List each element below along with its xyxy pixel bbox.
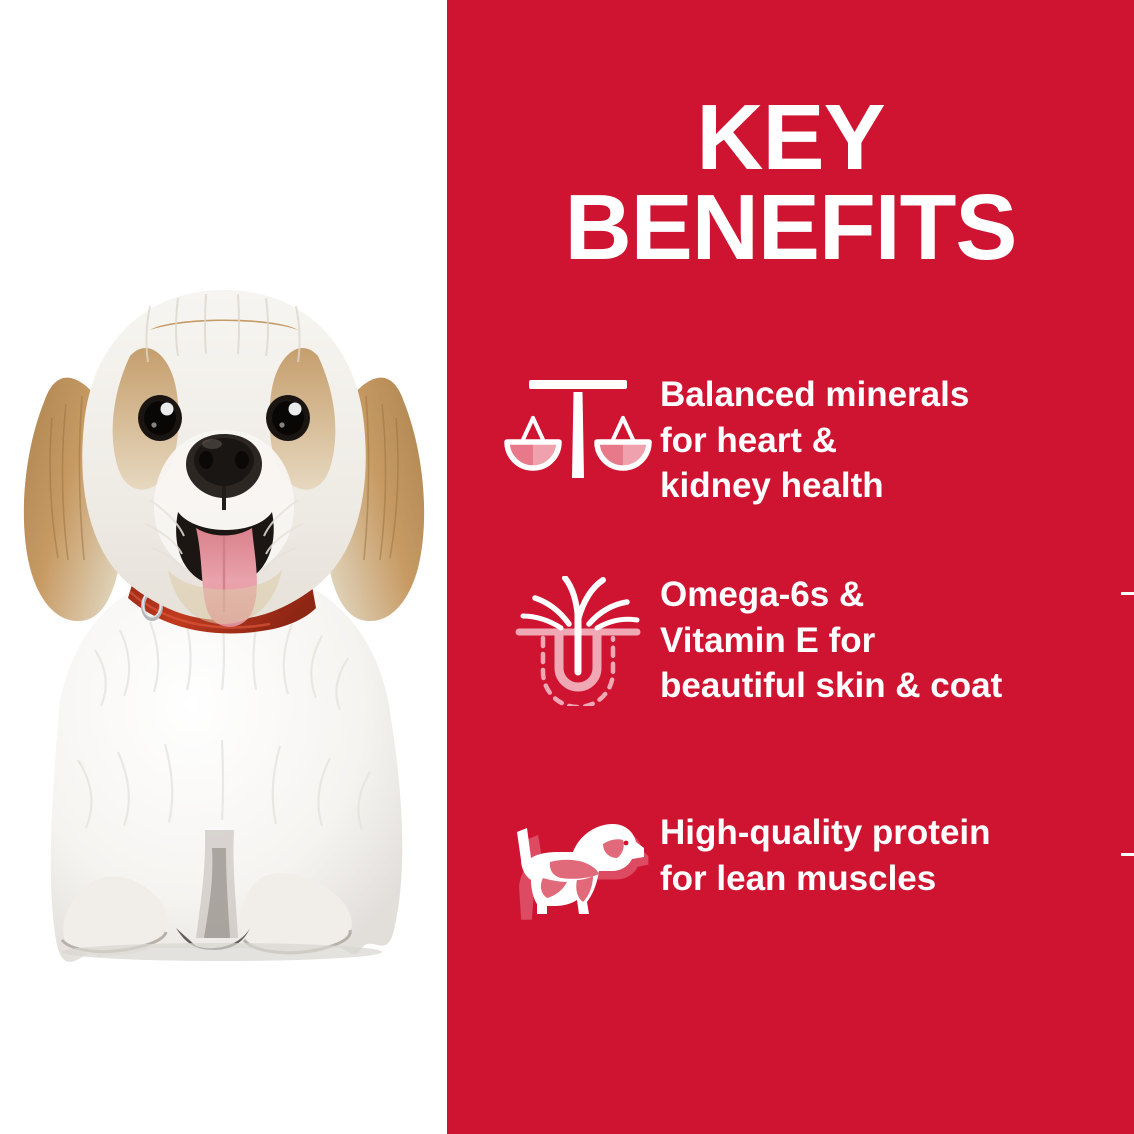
- benefit-text-balanced-minerals: Balanced minerals for heart & kidney hea…: [660, 372, 1134, 509]
- benefits-list: Balanced minerals for heart & kidney hea…: [447, 372, 1134, 970]
- benefit-divider-1: [1121, 592, 1134, 595]
- dog-photo-panel: [0, 0, 447, 1134]
- balance-scales-icon: [495, 372, 660, 486]
- benefit-text-high-quality-protein: High-quality protein for lean muscles: [660, 810, 1134, 901]
- benefit-item-high-quality-protein: High-quality protein for lean muscles: [447, 810, 1134, 970]
- key-benefits-product-image: KEY BENEFITS: [0, 0, 1134, 1134]
- benefit-item-balanced-minerals: Balanced minerals for heart & kidney hea…: [447, 372, 1134, 572]
- benefit-item-omega-6s-vitamin-e: Omega-6s & Vitamin E for beautiful skin …: [447, 572, 1134, 810]
- key-benefits-panel: KEY BENEFITS: [447, 0, 1134, 1134]
- benefit-divider-2: [1121, 853, 1134, 856]
- dog-muscle-icon: [495, 810, 660, 924]
- dog-photo: [0, 0, 447, 1134]
- hair-follicle-icon: [495, 572, 660, 706]
- benefit-text-omega-6s-vitamin-e: Omega-6s & Vitamin E for beautiful skin …: [660, 572, 1134, 709]
- page-title: KEY BENEFITS: [447, 92, 1134, 272]
